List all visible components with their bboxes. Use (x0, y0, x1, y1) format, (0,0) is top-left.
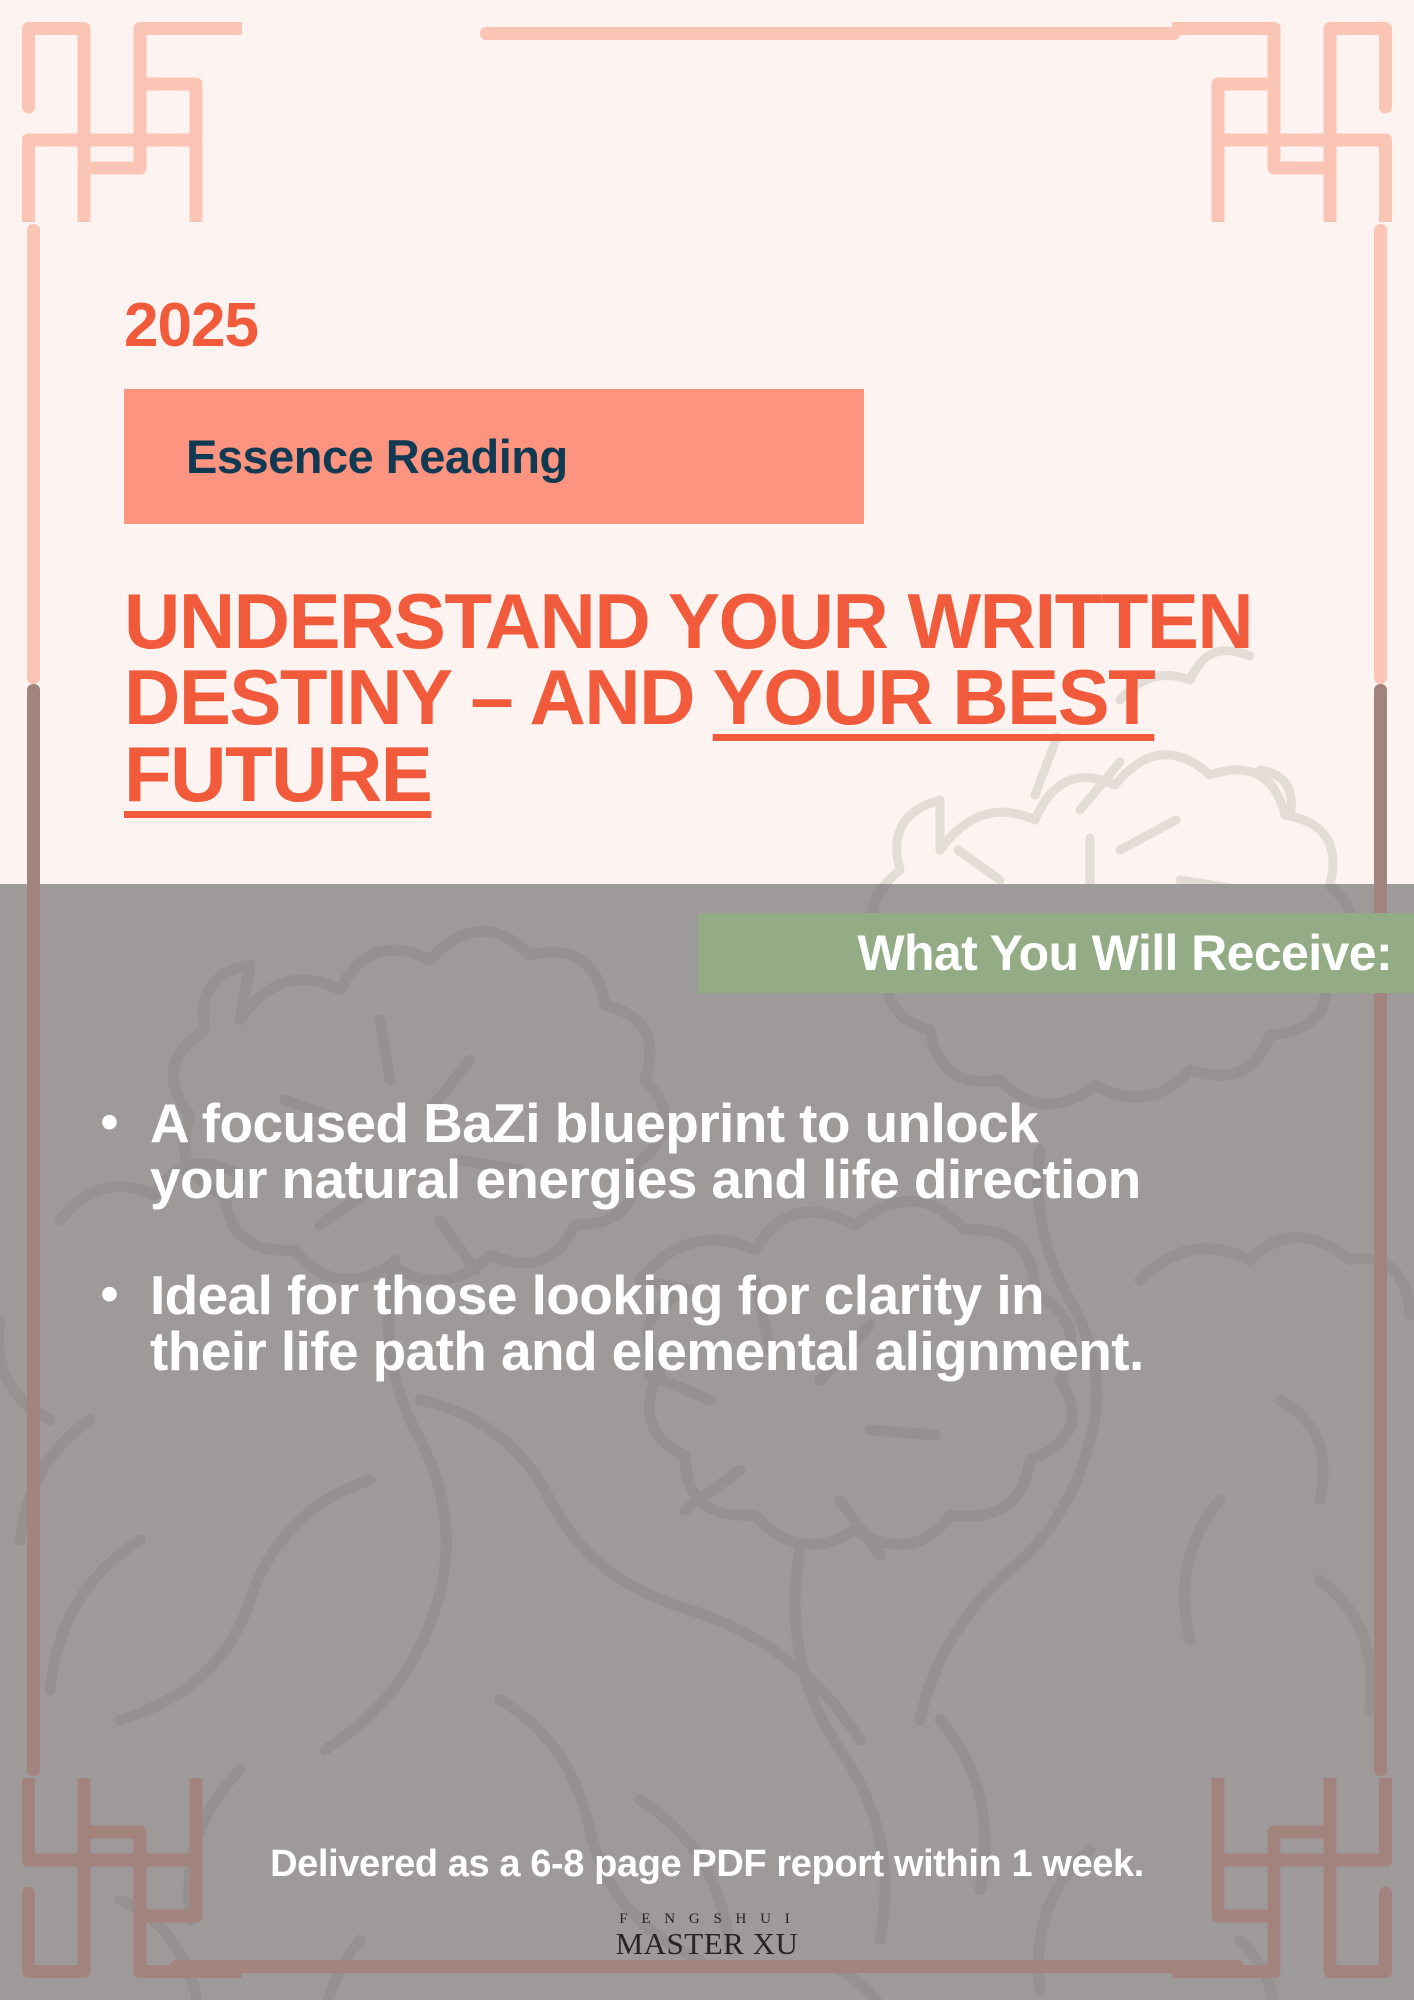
what-you-will-receive-badge: What You Will Receive: (698, 913, 1414, 993)
headline-line-3-underlined: FUTURE (124, 730, 431, 818)
page-title: UNDERSTAND YOUR WRITTEN DESTINY – AND YO… (124, 583, 1254, 812)
poster-canvas: 2025 Essence Reading UNDERSTAND YOUR WRI… (0, 0, 1414, 2000)
bullet-dot-icon: • (100, 1267, 150, 1322)
list-item-text: A focused BaZi blueprint to unlock your … (150, 1095, 1150, 1207)
brand-logo: F E N G S H U I MASTER XU (0, 1910, 1414, 1961)
year-label: 2025 (124, 295, 258, 357)
headline-line-1: UNDERSTAND YOUR WRITTEN (124, 577, 1252, 665)
essence-reading-badge: Essence Reading (124, 389, 864, 524)
list-item: • Ideal for those looking for clarity in… (100, 1267, 1330, 1379)
brand-logo-bottom-line: MASTER XU (0, 1928, 1414, 1961)
bullet-dot-icon: • (100, 1095, 150, 1150)
headline-line-2-plain: DESTINY – AND (124, 653, 713, 741)
essence-reading-badge-label: Essence Reading (186, 429, 568, 484)
benefits-list: • A focused BaZi blueprint to unlock you… (100, 1095, 1330, 1439)
list-item-text: Ideal for those looking for clarity in t… (150, 1267, 1160, 1379)
poster-content: 2025 Essence Reading UNDERSTAND YOUR WRI… (0, 0, 1414, 2000)
list-item: • A focused BaZi blueprint to unlock you… (100, 1095, 1330, 1207)
delivery-note: Delivered as a 6-8 page PDF report withi… (0, 1843, 1414, 1886)
what-you-will-receive-badge-label: What You Will Receive: (857, 924, 1392, 982)
headline-line-2-underlined: YOUR BEST (713, 653, 1155, 741)
